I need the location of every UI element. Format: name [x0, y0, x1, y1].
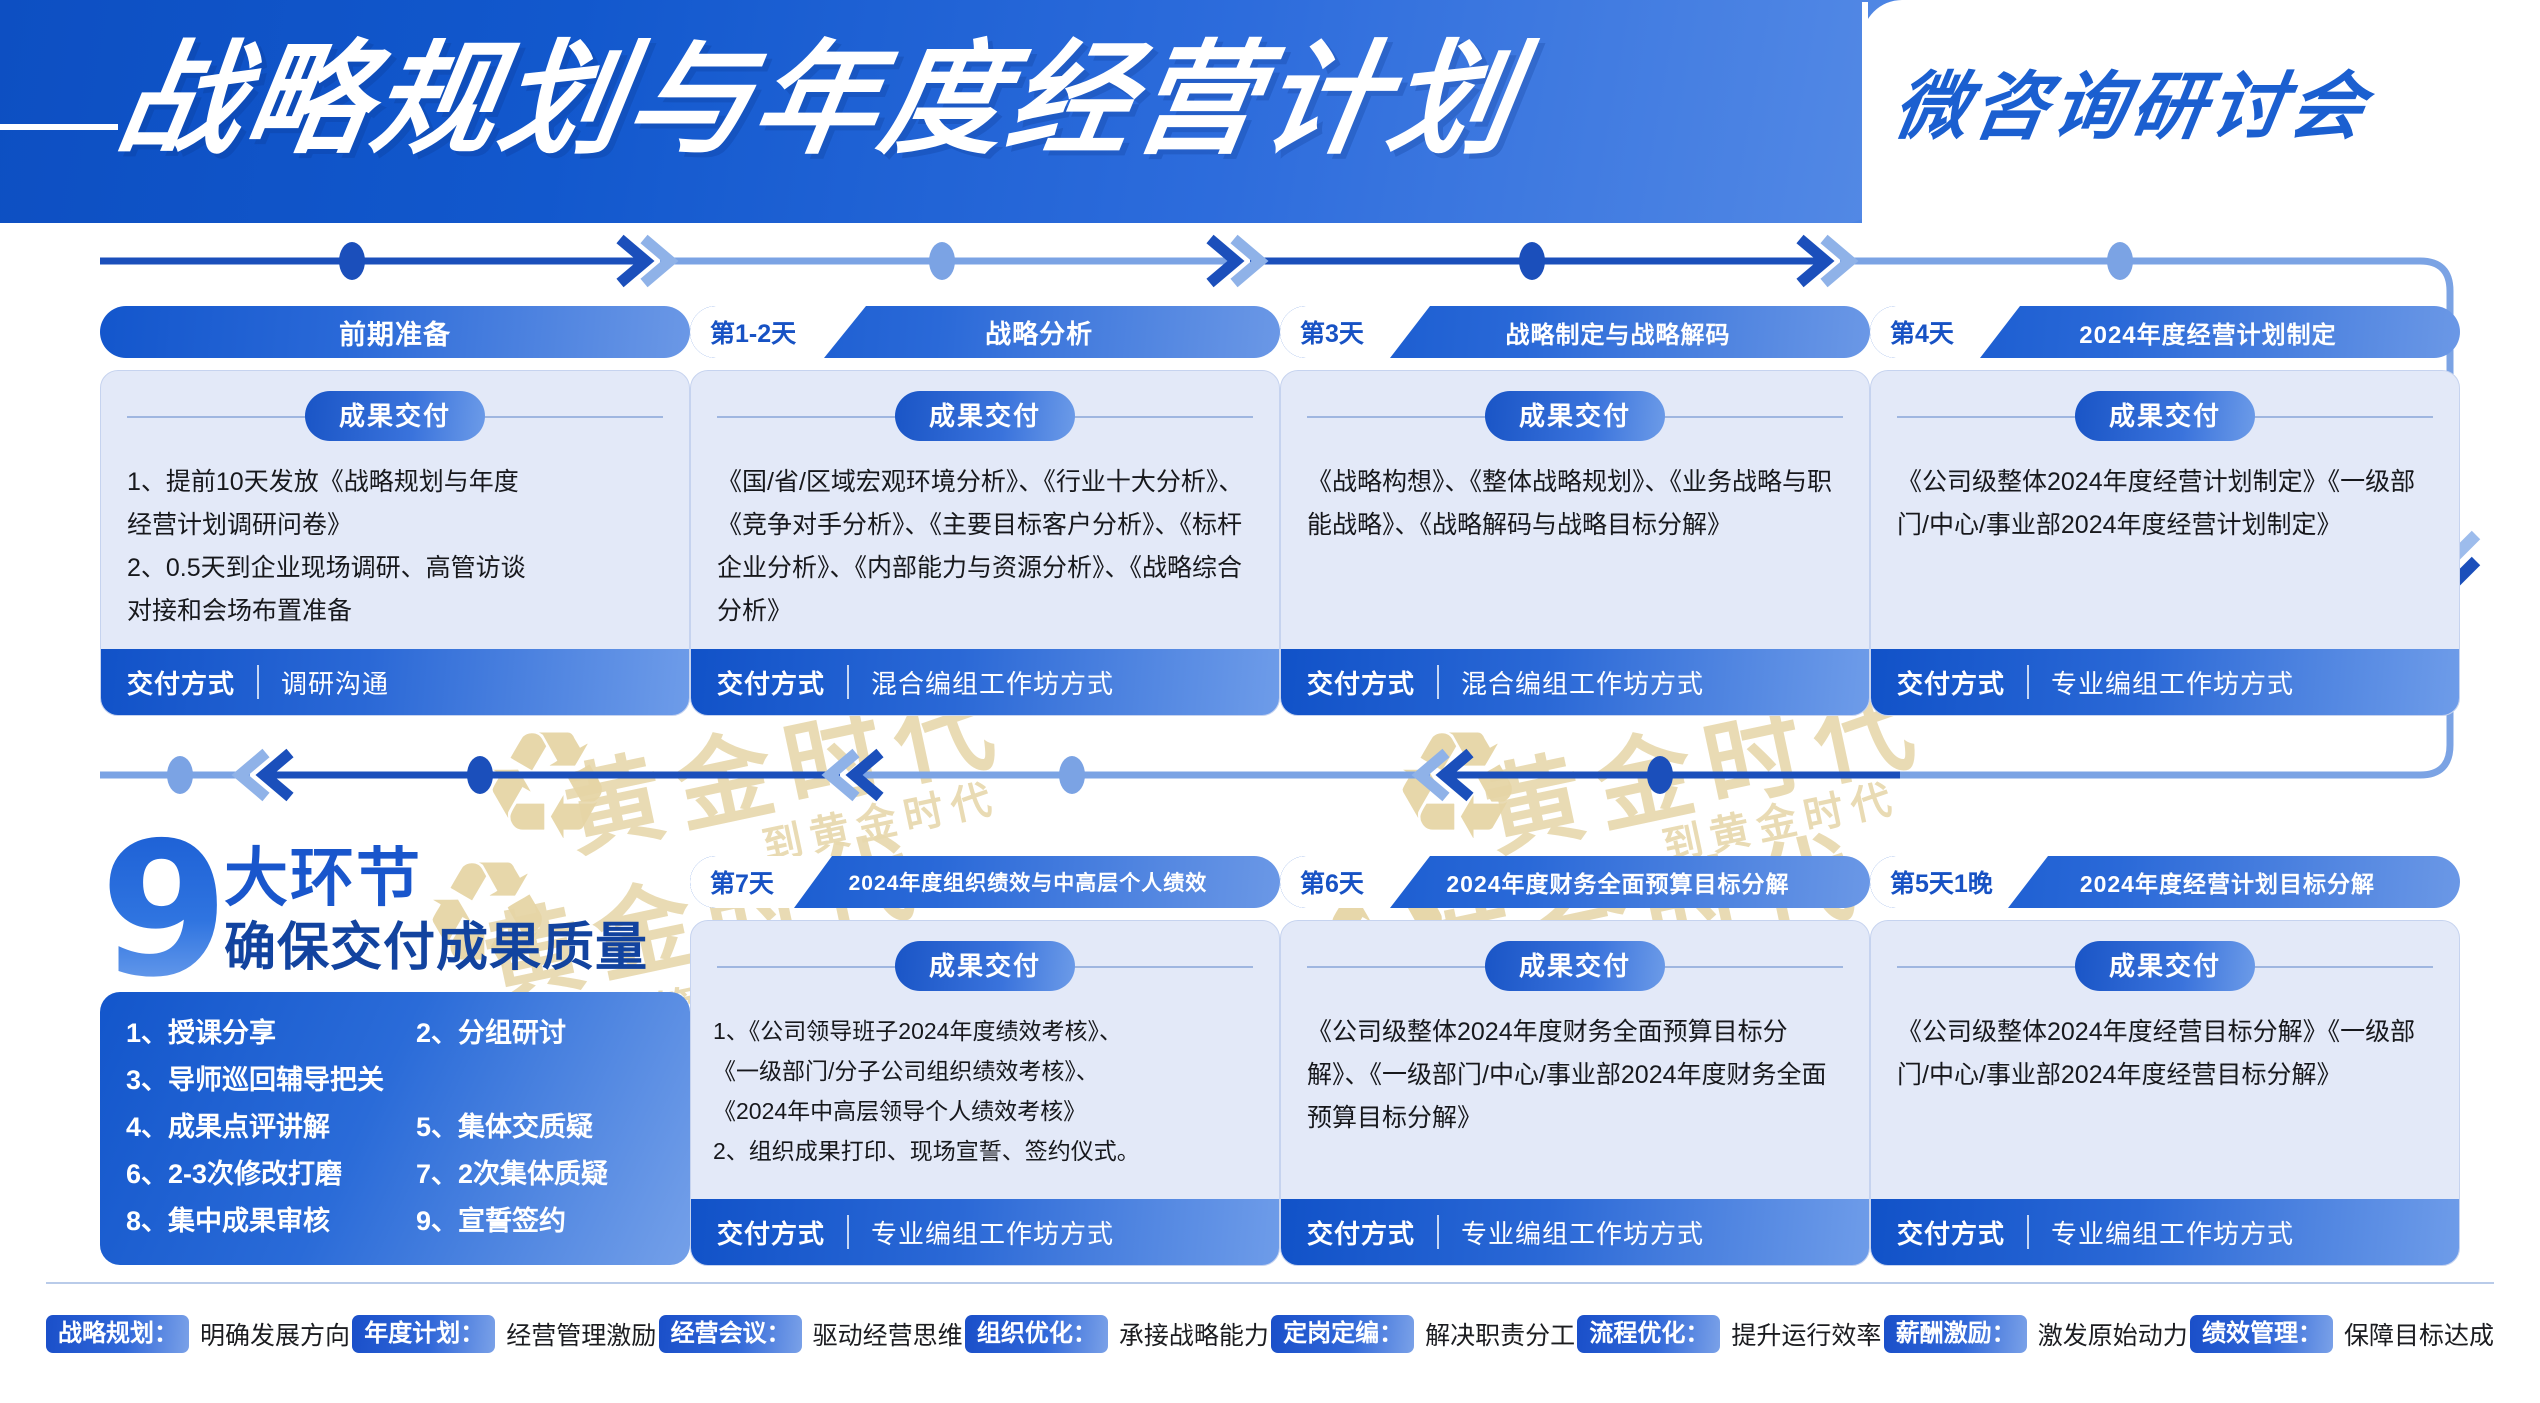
nine-number: 9 [100, 818, 229, 1003]
stage-title-6: 2024年度财务全面预算目标分解 [1376, 865, 1870, 899]
nine-list-item: 6、2-3次修改打磨 7、2次集体质疑 [126, 1151, 664, 1198]
stage-body-2: 成果交付 《国/省/区域宏观环境分析》、《行业十大分析》、《竞争对手分析》、《主… [690, 370, 1280, 716]
nine-list-item: 8、集中成果审核 9、宣誓签约 [126, 1198, 664, 1245]
nine-links-list: 1、授课分享 2、分组研讨 3、导师巡回辅导把关 4、成果点评讲解 5、集体交质… [100, 992, 690, 1265]
nine-links-block: 9 大环节 确保交付成果质量 1、授课分享 2、分组研讨 3、导师巡回辅导把关 … [100, 840, 690, 1265]
deliverable-header-7: 成果交付 [1871, 935, 2459, 997]
stage-header-pill-5: 第7天 2024年度组织绩效与中高层个人绩效 [690, 856, 1280, 908]
stage-body-4: 成果交付 《公司级整体2024年度经营计划制定》《一级部门/中心/事业部2024… [1870, 370, 2460, 716]
delivery-method-value-1: 调研沟通 [281, 664, 389, 701]
nine-item-9: 9、宣誓签约 [416, 1198, 566, 1245]
delivery-method-5: 交付方式 专业编组工作坊方式 [691, 1199, 1279, 1265]
page-subtitle: 微咨询研讨会 [1886, 52, 2377, 162]
footer-tag-key-2: 年度计划： [352, 1315, 495, 1353]
stage-card-3[interactable]: 第3天 战略制定与战略解码 成果交付 《战略构想》、《整体战略规划》、《业务战略… [1280, 306, 1870, 716]
delivery-method-separator-1 [257, 665, 259, 699]
deliverable-text-6: 《公司级整体2024年度财务全面预算目标分解》、《一级部门/中心/事业部2024… [1281, 997, 1869, 1199]
footer-tag-value-8: 保障目标达成 [2344, 1316, 2494, 1352]
delivery-method-value-2: 混合编组工作坊方式 [871, 664, 1114, 701]
deliverable-header-6: 成果交付 [1281, 935, 1869, 997]
stage-header-pill-7: 第5天1晚 2024年度经营计划目标分解 [1870, 856, 2460, 908]
stage-body-1: 成果交付 1、提前10天发放《战略规划与年度 经营计划调研问卷》 2、0.5天到… [100, 370, 690, 716]
stage-body-6: 成果交付 《公司级整体2024年度财务全面预算目标分解》、《一级部门/中心/事业… [1280, 920, 1870, 1266]
stage-card-7[interactable]: 第5天1晚 2024年度经营计划目标分解 成果交付 《公司级整体2024年度经营… [1870, 856, 2460, 1266]
delivery-method-separator-6 [1437, 1215, 1439, 1249]
delivery-method-key-2: 交付方式 [717, 664, 825, 701]
deliverable-badge-1: 成果交付 [305, 391, 485, 441]
stage-header-pill-1: 前期准备 [100, 306, 690, 358]
deliverable-text-1: 1、提前10天发放《战略规划与年度 经营计划调研问卷》 2、0.5天到企业现场调… [101, 447, 689, 649]
delivery-method-value-3: 混合编组工作坊方式 [1461, 664, 1704, 701]
stage-title-5: 2024年度组织绩效与中高层个人绩效 [786, 867, 1280, 897]
deliverable-badge-6: 成果交付 [1485, 941, 1665, 991]
nine-title: 大环节 [224, 846, 422, 910]
delivery-method-key-1: 交付方式 [127, 664, 235, 701]
footer-tag[interactable]: 绩效管理： 保障目标达成 [2190, 1315, 2494, 1353]
nine-list-item: 4、成果点评讲解 5、集体交质疑 [126, 1104, 664, 1151]
stage-day-6: 第6天 [1280, 856, 1376, 908]
delivery-method-4: 交付方式 专业编组工作坊方式 [1871, 649, 2459, 715]
stage-day-4: 第4天 [1870, 306, 1966, 358]
nine-item-7: 7、2次集体质疑 [416, 1151, 608, 1198]
footer-tag-value-1: 明确发展方向 [200, 1316, 350, 1352]
footer-tag-value-7: 激发原始动力 [2038, 1316, 2188, 1352]
delivery-method-6: 交付方式 专业编组工作坊方式 [1281, 1199, 1869, 1265]
deliverable-header-2: 成果交付 [691, 385, 1279, 447]
stage-day-7: 第5天1晚 [1870, 856, 2005, 908]
stage-body-5: 成果交付 1、《公司领导班子2024年度绩效考核》、 《一级部门/分子公司组织绩… [690, 920, 1280, 1266]
footer-tag[interactable]: 战略规划： 明确发展方向 [46, 1315, 350, 1353]
delivery-method-separator-4 [2027, 665, 2029, 699]
stage-header-pill-3: 第3天 战略制定与战略解码 [1280, 306, 1870, 358]
footer-tag-value-3: 驱动经营思维 [813, 1316, 963, 1352]
nine-subtitle: 确保交付成果质量 [224, 920, 648, 976]
deliverable-text-2: 《国/省/区域宏观环境分析》、《行业十大分析》、《竞争对手分析》、《主要目标客户… [691, 447, 1279, 649]
footer-tag[interactable]: 流程优化： 提升运行效率 [1577, 1315, 1881, 1353]
deliverable-badge-2: 成果交付 [895, 391, 1075, 441]
footer-tag-key-7: 薪酬激励： [1884, 1315, 2027, 1353]
footer-tag-key-1: 战略规划： [46, 1315, 189, 1353]
footer-tag-key-6: 流程优化： [1577, 1315, 1720, 1353]
header-subtitle-divider [1862, 2, 1868, 223]
footer-tag-key-8: 绩效管理： [2190, 1315, 2333, 1353]
deliverable-header-3: 成果交付 [1281, 385, 1869, 447]
footer-tag[interactable]: 定岗定编： 解决职责分工 [1271, 1315, 1575, 1353]
stage-day-5: 第7天 [690, 856, 786, 908]
header-accent-rule [0, 124, 118, 130]
deliverable-badge-3: 成果交付 [1485, 391, 1665, 441]
delivery-method-value-5: 专业编组工作坊方式 [871, 1214, 1114, 1251]
footer-tag[interactable]: 经营会议： 驱动经营思维 [659, 1315, 963, 1353]
delivery-method-key-3: 交付方式 [1307, 664, 1415, 701]
delivery-method-value-4: 专业编组工作坊方式 [2051, 664, 2294, 701]
delivery-method-separator-3 [1437, 665, 1439, 699]
stage-title-2: 战略分析 [808, 314, 1280, 351]
delivery-method-1: 交付方式 调研沟通 [101, 649, 689, 715]
stage-card-5[interactable]: 第7天 2024年度组织绩效与中高层个人绩效 成果交付 1、《公司领导班子202… [690, 856, 1280, 1266]
delivery-method-separator-7 [2027, 1215, 2029, 1249]
deliverable-badge-4: 成果交付 [2075, 391, 2255, 441]
delivery-method-key-4: 交付方式 [1897, 664, 2005, 701]
nine-item-3: 3、导师巡回辅导把关 [126, 1057, 416, 1104]
footer-tag-value-4: 承接战略能力 [1119, 1316, 1269, 1352]
deliverable-header-4: 成果交付 [1871, 385, 2459, 447]
stage-card-4[interactable]: 第4天 2024年度经营计划制定 成果交付 《公司级整体2024年度经营计划制定… [1870, 306, 2460, 716]
deliverable-badge-5: 成果交付 [895, 941, 1075, 991]
footer-tag-value-6: 提升运行效率 [1731, 1316, 1881, 1352]
nine-item-6: 6、2-3次修改打磨 [126, 1151, 416, 1198]
stage-card-2[interactable]: 第1-2天 战略分析 成果交付 《国/省/区域宏观环境分析》、《行业十大分析》、… [690, 306, 1280, 716]
footer-divider [46, 1282, 2494, 1284]
delivery-method-2: 交付方式 混合编组工作坊方式 [691, 649, 1279, 715]
stage-day-2: 第1-2天 [690, 306, 808, 358]
delivery-method-key-6: 交付方式 [1307, 1214, 1415, 1251]
delivery-method-7: 交付方式 专业编组工作坊方式 [1871, 1199, 2459, 1265]
delivery-method-value-6: 专业编组工作坊方式 [1461, 1214, 1704, 1251]
footer-tag[interactable]: 组织优化： 承接战略能力 [965, 1315, 1269, 1353]
footer-tag-value-5: 解决职责分工 [1425, 1316, 1575, 1352]
stage-title-3: 战略制定与战略解码 [1376, 315, 1870, 350]
deliverable-text-3: 《战略构想》、《整体战略规划》、《业务战略与职能战略》、《战略解码与战略目标分解… [1281, 447, 1869, 649]
page-title: 战略规划与年度经营计划 [107, 16, 1531, 186]
nine-list-item: 3、导师巡回辅导把关 [126, 1057, 664, 1104]
delivery-method-value-7: 专业编组工作坊方式 [2051, 1214, 2294, 1251]
delivery-method-separator-5 [847, 1215, 849, 1249]
nine-item-2: 2、分组研讨 [416, 1010, 566, 1057]
page-header: 战略规划与年度经营计划 微咨询研讨会 [0, 0, 2540, 223]
stage-title-1: 前期准备 [100, 313, 690, 352]
stage-title-4: 2024年度经营计划制定 [1966, 315, 2460, 350]
footer-tag[interactable]: 薪酬激励： 激发原始动力 [1884, 1315, 2188, 1353]
deliverable-text-5: 1、《公司领导班子2024年度绩效考核》、 《一级部门/分子公司组织绩效考核》、… [691, 997, 1279, 1199]
nine-item-8: 8、集中成果审核 [126, 1198, 416, 1245]
footer-tag-bar: 战略规划： 明确发展方向 年度计划： 经营管理激励 经营会议： 驱动经营思维 组… [46, 1306, 2494, 1362]
stage-title-7: 2024年度经营计划目标分解 [2005, 865, 2460, 899]
delivery-method-3: 交付方式 混合编组工作坊方式 [1281, 649, 1869, 715]
stage-body-7: 成果交付 《公司级整体2024年度经营目标分解》《一级部门/中心/事业部2024… [1870, 920, 2460, 1266]
footer-tag[interactable]: 年度计划： 经营管理激励 [352, 1315, 656, 1353]
stage-header-pill-4: 第4天 2024年度经营计划制定 [1870, 306, 2460, 358]
stage-header-pill-6: 第6天 2024年度财务全面预算目标分解 [1280, 856, 1870, 908]
deliverable-header-1: 成果交付 [101, 385, 689, 447]
delivery-method-key-7: 交付方式 [1897, 1214, 2005, 1251]
deliverable-badge-7: 成果交付 [2075, 941, 2255, 991]
delivery-method-key-5: 交付方式 [717, 1214, 825, 1251]
nine-item-4: 4、成果点评讲解 [126, 1104, 416, 1151]
footer-tag-value-2: 经营管理激励 [506, 1316, 656, 1352]
stage-card-1[interactable]: 前期准备 成果交付 1、提前10天发放《战略规划与年度 经营计划调研问卷》 2、… [100, 306, 690, 716]
stage-body-3: 成果交付 《战略构想》、《整体战略规划》、《业务战略与职能战略》、《战略解码与战… [1280, 370, 1870, 716]
deliverable-header-5: 成果交付 [691, 935, 1279, 997]
deliverable-text-4: 《公司级整体2024年度经营计划制定》《一级部门/中心/事业部2024年度经营计… [1871, 447, 2459, 649]
deliverable-text-7: 《公司级整体2024年度经营目标分解》《一级部门/中心/事业部2024年度经营目… [1871, 997, 2459, 1199]
stage-header-pill-2: 第1-2天 战略分析 [690, 306, 1280, 358]
nine-item-5: 5、集体交质疑 [416, 1104, 593, 1151]
delivery-method-separator-2 [847, 665, 849, 699]
stage-day-3: 第3天 [1280, 306, 1376, 358]
footer-tag-key-3: 经营会议： [659, 1315, 802, 1353]
footer-tag-key-5: 定岗定编： [1271, 1315, 1414, 1353]
footer-tag-key-4: 组织优化： [965, 1315, 1108, 1353]
stage-card-6[interactable]: 第6天 2024年度财务全面预算目标分解 成果交付 《公司级整体2024年度财务… [1280, 856, 1870, 1266]
nine-links-heading: 9 大环节 确保交付成果质量 [100, 840, 690, 988]
